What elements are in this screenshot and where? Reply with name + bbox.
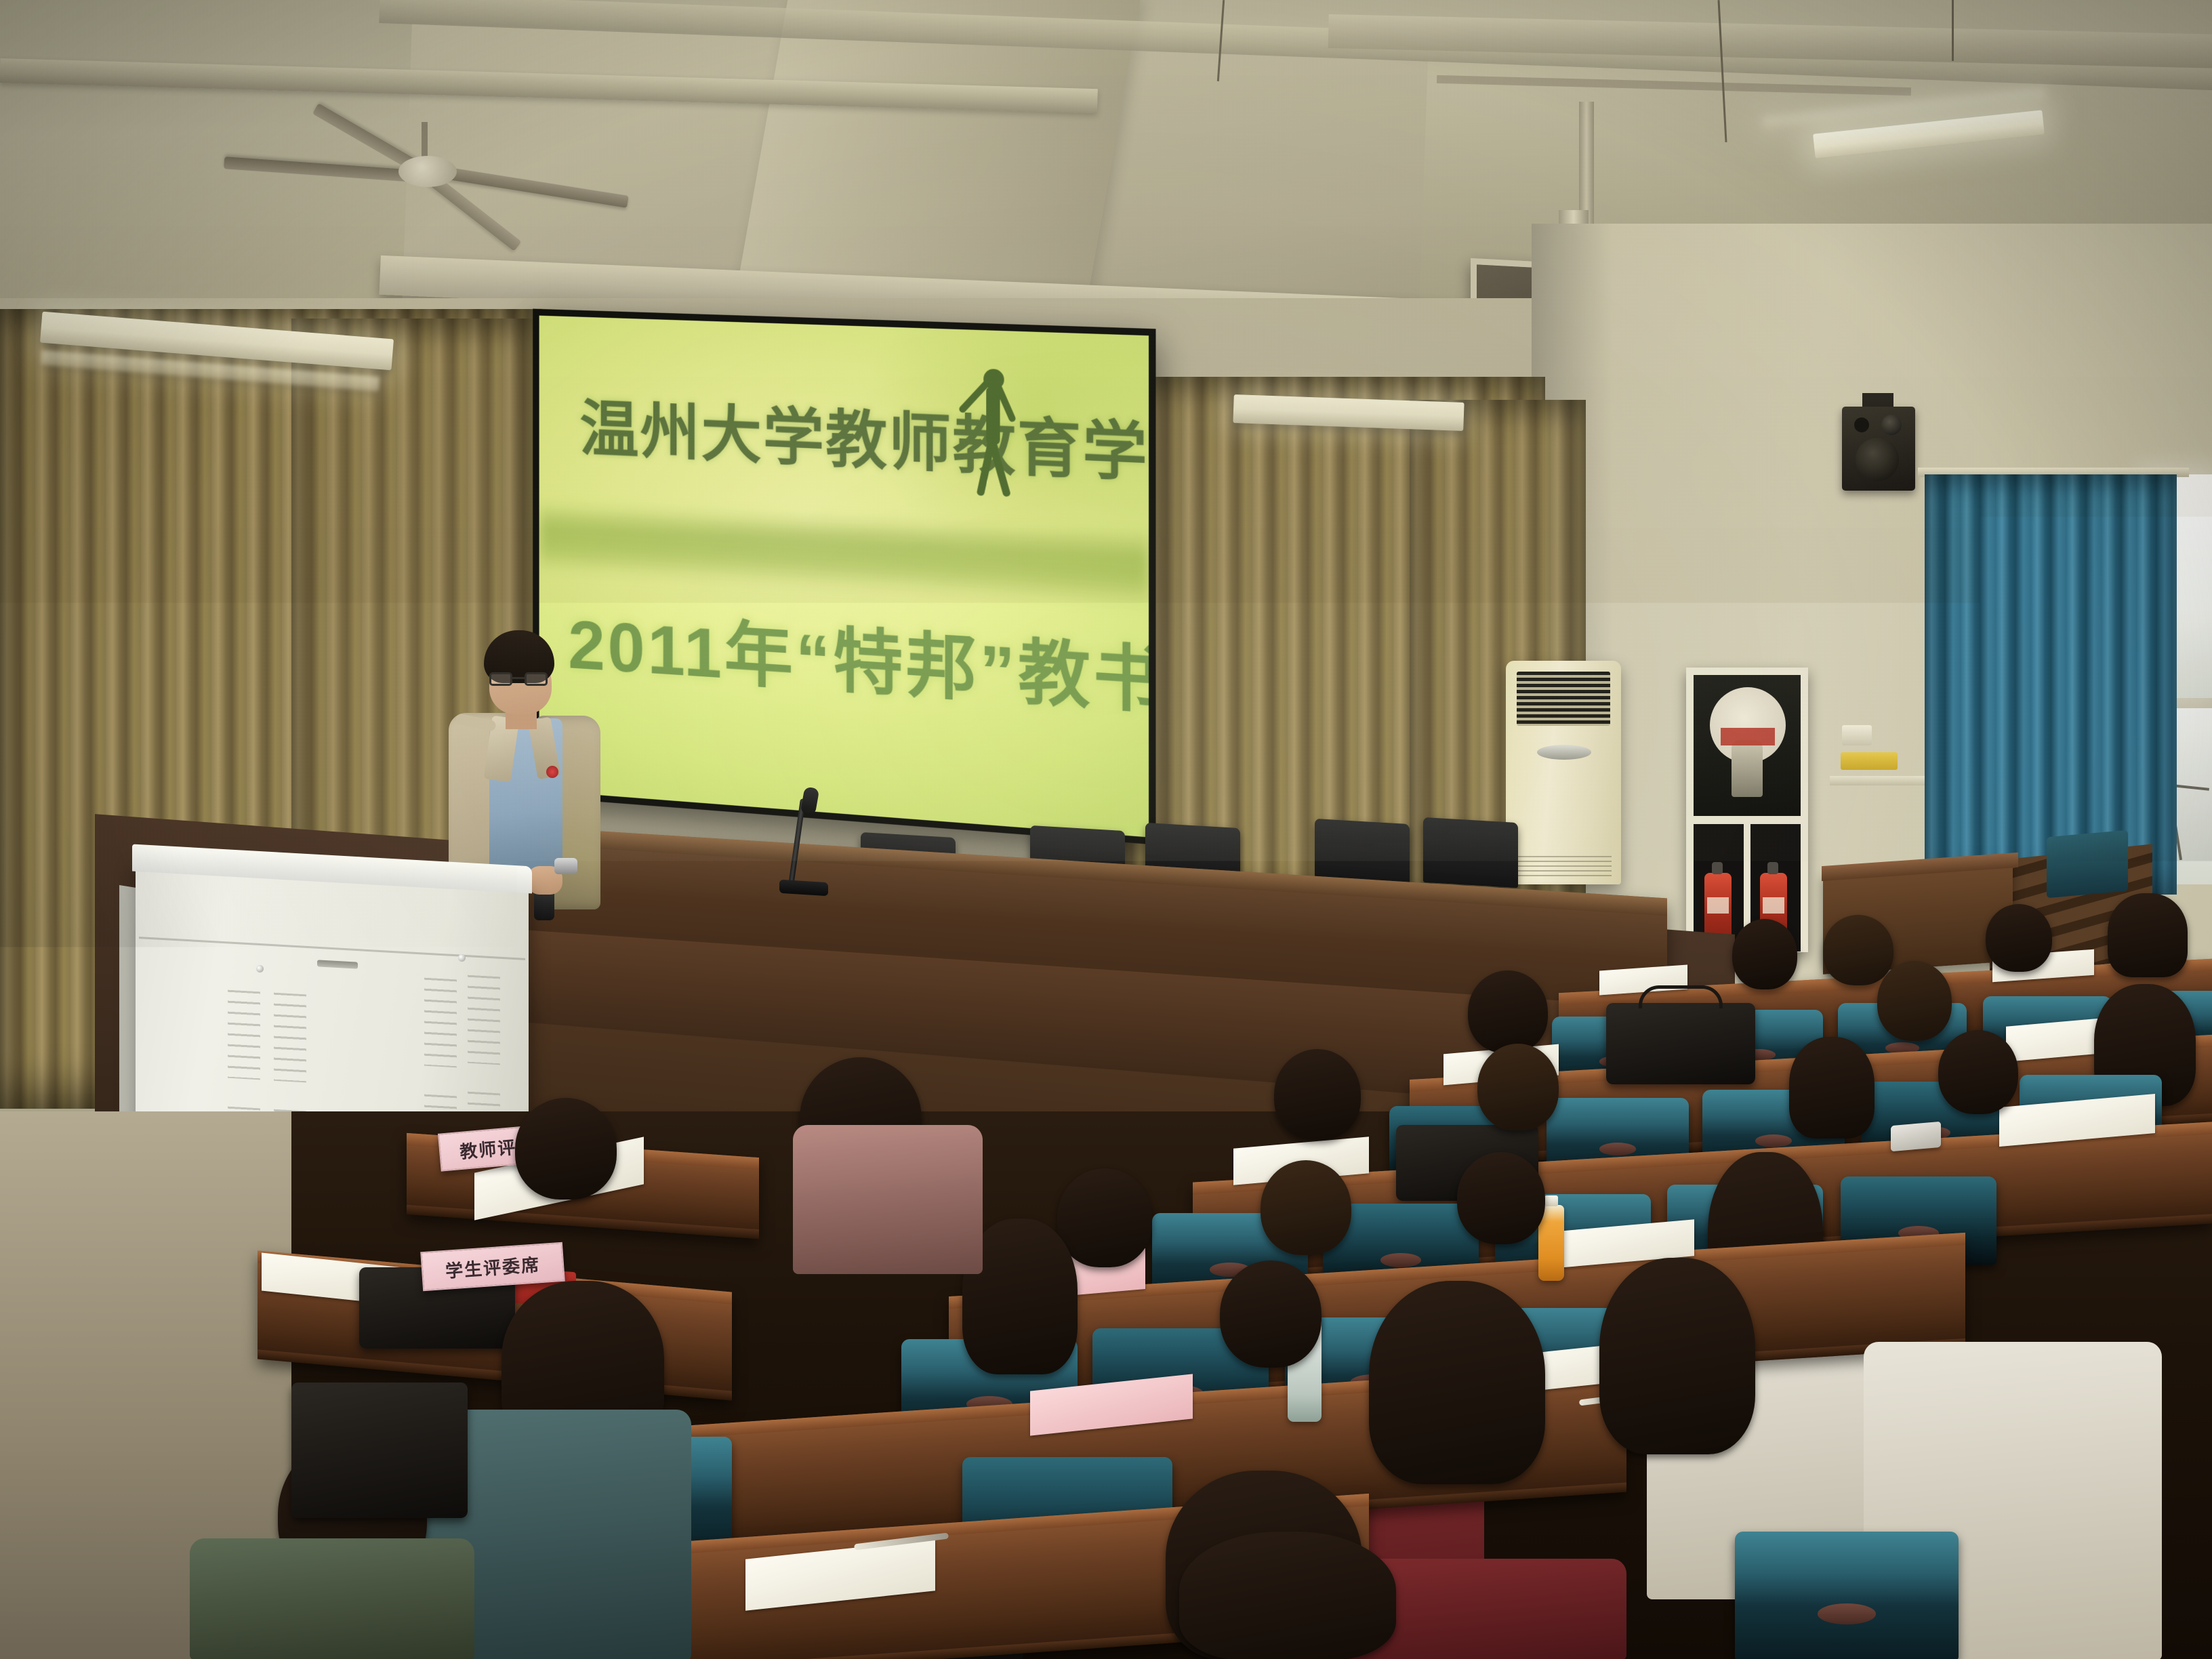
podium-vent	[468, 975, 500, 1065]
fire-sign-figure	[1732, 740, 1763, 797]
cabinet-divider	[1694, 816, 1801, 824]
ac-badge	[1537, 745, 1591, 760]
audience-head	[1938, 1030, 2018, 1114]
air-conditioner-unit	[1506, 661, 1621, 884]
audience-head	[1369, 1281, 1545, 1484]
blue-window-curtain	[1925, 474, 2177, 895]
podium-screw	[458, 954, 466, 962]
stage-chair	[1423, 817, 1518, 888]
audience-head	[1877, 961, 1952, 1041]
wristwatch-icon	[554, 858, 577, 874]
glasses-bridge	[512, 677, 525, 679]
handbag-icon	[1606, 1003, 1755, 1084]
audience-head	[515, 1098, 617, 1200]
auditorium-seat	[1735, 1532, 1959, 1659]
projection-screen-surface: 温州大学教师教育学院 2011年“特邦”教书育人奖评选大会	[539, 316, 1149, 838]
ceiling-wire	[1952, 0, 1954, 61]
projection-screen: 温州大学教师教育学院 2011年“特邦”教书育人奖评选大会	[533, 309, 1155, 845]
audience-head	[1477, 1044, 1559, 1130]
wall-loudspeaker-icon	[1842, 407, 1915, 491]
fan-hub	[398, 156, 457, 187]
wall-notice-sign	[1841, 752, 1898, 770]
audience-head	[1274, 1049, 1361, 1140]
eyeglasses-icon	[489, 672, 552, 686]
audience-head	[1986, 904, 2052, 972]
audience-head	[1732, 919, 1797, 989]
fire-safety-sign	[1694, 675, 1801, 816]
audience-head	[1057, 1168, 1152, 1267]
audience-head	[2108, 893, 2188, 977]
backpack-icon	[291, 1382, 468, 1518]
podium-vent	[424, 978, 457, 1068]
podium-vent	[274, 993, 306, 1083]
speaker-tweeter	[1881, 415, 1902, 435]
extinguisher-label	[1707, 897, 1729, 914]
audience-head	[1599, 1258, 1755, 1454]
ac-grille	[1517, 672, 1610, 726]
speaker-port	[1854, 417, 1869, 432]
fire-sign-red-text	[1721, 728, 1775, 745]
slide-title-text: 2011年“特邦”教书育人奖评选大会	[568, 588, 1149, 766]
figure-leg	[988, 441, 1011, 498]
photo-scene: 温州大学教师教育学院 2011年“特邦”教书育人奖评选大会	[0, 0, 2212, 1659]
fire-extinguisher-cabinet	[1686, 668, 1808, 952]
audience-head	[1457, 1152, 1545, 1244]
audience-head	[1261, 1160, 1351, 1255]
ceiling-fan-icon	[224, 122, 644, 244]
lapel-microphone-icon	[546, 766, 558, 778]
podium-vent	[228, 990, 260, 1080]
audience-head	[1468, 970, 1548, 1053]
audience-head	[1179, 1532, 1396, 1659]
audience-head	[1823, 915, 1893, 985]
audience-head	[1220, 1261, 1322, 1368]
extinguisher-label	[1763, 897, 1784, 914]
rear-seat	[2047, 830, 2128, 898]
glasses-lens	[525, 672, 548, 686]
speaker-woofer	[1856, 438, 1899, 481]
figure-body	[986, 387, 1000, 445]
bag-handle	[1639, 985, 1722, 1008]
glasses-lens	[489, 672, 512, 686]
mobile-phone-icon	[1891, 1122, 1941, 1151]
fire-alarm-box	[1842, 725, 1872, 745]
audience-person-body	[793, 1125, 983, 1274]
jumping-person-silhouette-icon	[959, 364, 1035, 518]
audience-person-body	[190, 1538, 474, 1659]
fan-downrod	[422, 122, 428, 160]
podium-screw	[256, 965, 264, 972]
ac-bottom-vent	[1515, 856, 1612, 876]
audience-head	[1789, 1037, 1875, 1139]
